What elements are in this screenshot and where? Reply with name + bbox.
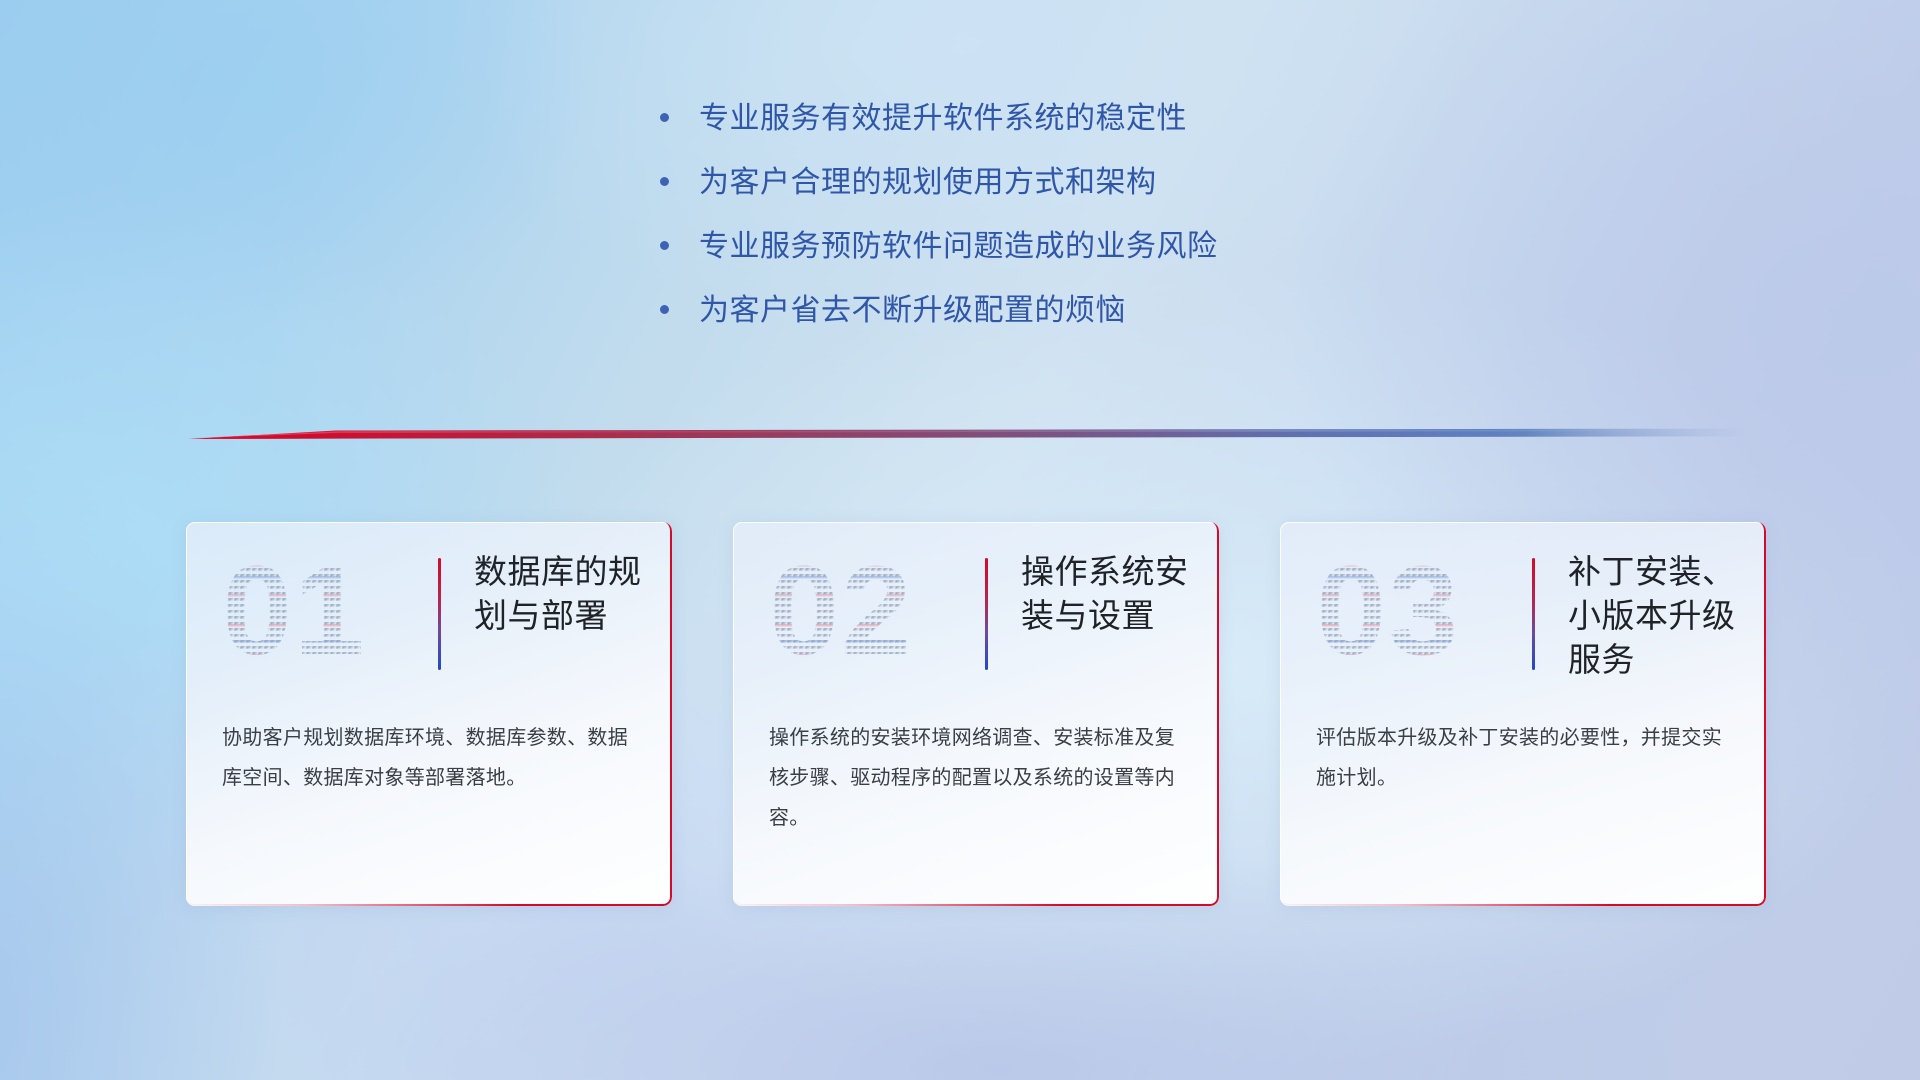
bullet-label: 专业服务预防软件问题造成的业务风险 xyxy=(699,232,1218,262)
card-number-graphic: 03 xyxy=(1316,550,1502,674)
service-card[interactable]: 01 数 xyxy=(186,522,672,906)
card-description: 协助客户规划数据库环境、数据库参数、数据库空间、数据库对象等部署落地。 xyxy=(222,718,646,798)
card-description: 评估版本升级及补丁安装的必要性，并提交实施计划。 xyxy=(1316,718,1740,798)
benefits-bullet-list: 专业服务有效提升软件系统的稳定性 为客户合理的规划使用方式和架构 专业服务预防软… xyxy=(660,104,1218,360)
card-divider-rule xyxy=(1532,558,1535,670)
service-card-row: 01 数 xyxy=(186,522,1766,906)
card-title: 数据库的规划与部署 xyxy=(474,550,652,638)
card-divider-rule xyxy=(438,558,441,670)
list-item: 为客户省去不断升级配置的烦恼 xyxy=(660,296,1218,360)
bullet-label: 专业服务有效提升软件系统的稳定性 xyxy=(699,104,1187,134)
service-card[interactable]: 02 操 xyxy=(733,522,1219,906)
bullet-dot-icon xyxy=(660,305,669,314)
service-card[interactable]: 03 补 xyxy=(1280,522,1766,906)
slide-canvas: 专业服务有效提升软件系统的稳定性 为客户合理的规划使用方式和架构 专业服务预防软… xyxy=(0,0,1920,1080)
card-header: 02 操 xyxy=(733,522,1219,694)
bullet-label: 为客户合理的规划使用方式和架构 xyxy=(699,168,1157,198)
card-number-graphic: 02 xyxy=(769,550,955,674)
card-header: 01 数 xyxy=(186,522,672,694)
card-title: 操作系统安装与设置 xyxy=(1021,550,1199,638)
card-number-graphic: 01 xyxy=(222,550,408,674)
card-header: 03 补 xyxy=(1280,522,1766,694)
card-description: 操作系统的安装环境网络调查、安装标准及复核步骤、驱动程序的配置以及系统的设置等内… xyxy=(769,718,1193,838)
list-item: 为客户合理的规划使用方式和架构 xyxy=(660,168,1218,232)
bullet-dot-icon xyxy=(660,113,669,122)
bullet-dot-icon xyxy=(660,177,669,186)
list-item: 专业服务有效提升软件系统的稳定性 xyxy=(660,104,1218,168)
bullet-dot-icon xyxy=(660,241,669,250)
list-item: 专业服务预防软件问题造成的业务风险 xyxy=(660,232,1218,296)
card-title: 补丁安装、小版本升级服务 xyxy=(1568,550,1746,682)
bullet-label: 为客户省去不断升级配置的烦恼 xyxy=(699,296,1126,326)
section-divider xyxy=(186,420,1746,446)
card-divider-rule xyxy=(985,558,988,670)
